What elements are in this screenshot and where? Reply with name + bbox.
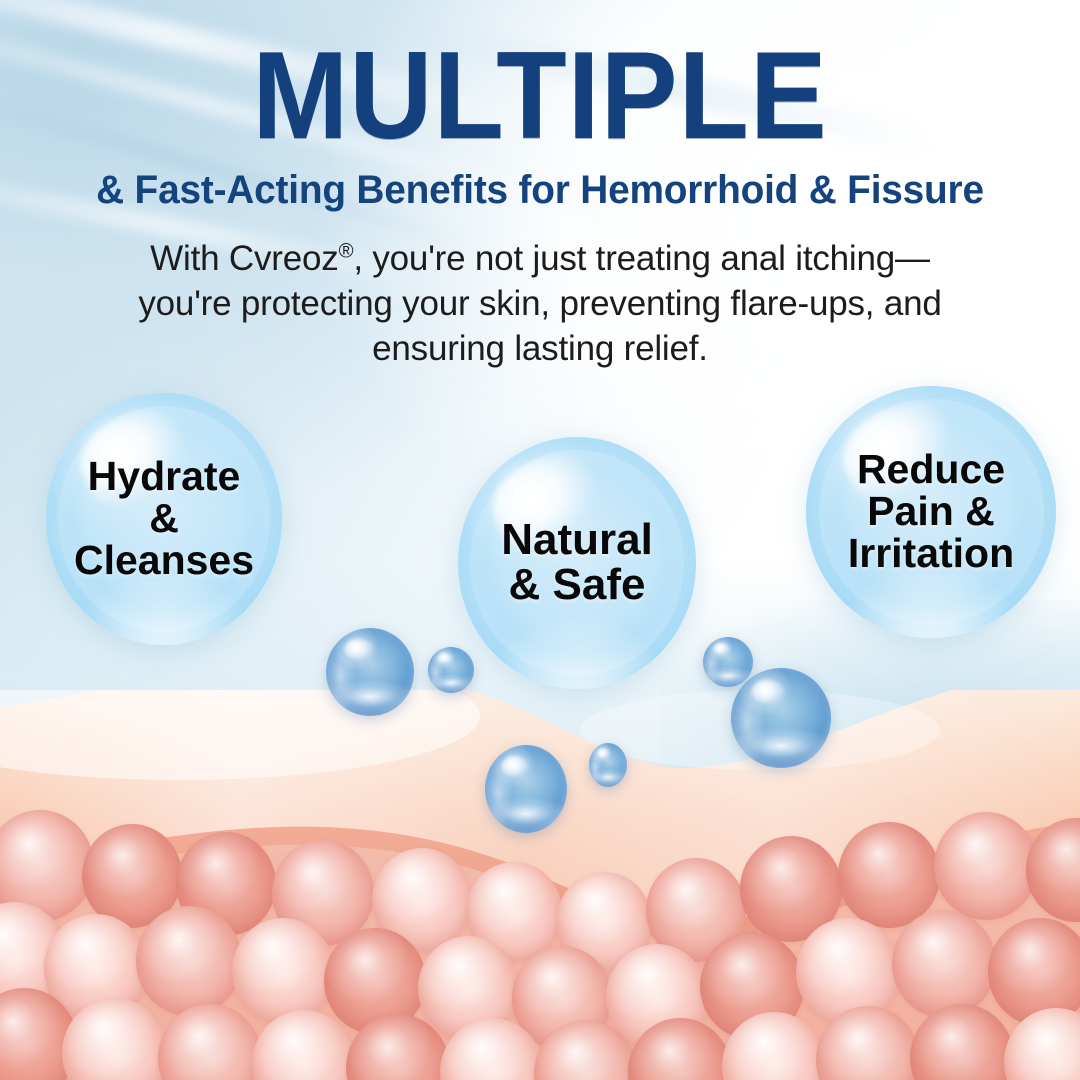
benefit-line: Pain & xyxy=(867,491,995,533)
benefit-bubble-reduce-label: Reduce Pain & Irritation xyxy=(806,386,1056,638)
benefit-line: & xyxy=(149,498,179,540)
skin-cell xyxy=(892,910,996,1018)
skin-cell xyxy=(934,812,1038,920)
infographic-canvas: MULTIPLE & Fast-Acting Benefits for Hemo… xyxy=(0,0,1080,1080)
registered-trademark-icon: ® xyxy=(339,240,354,262)
body-line-2: you're protecting your skin, preventing … xyxy=(138,284,941,323)
skin-cell xyxy=(232,918,334,1024)
water-droplet xyxy=(326,628,414,716)
water-droplet xyxy=(589,743,627,787)
header-text-block: MULTIPLE & Fast-Acting Benefits for Hemo… xyxy=(0,0,1080,371)
benefit-bubble-reduce[interactable]: Reduce Pain & Irritation xyxy=(806,386,1056,638)
skin-cell xyxy=(136,906,242,1016)
benefit-bubble-natural-label: Natural & Safe xyxy=(458,437,696,689)
page-subtitle: & Fast-Acting Benefits for Hemorrhoid & … xyxy=(16,168,1064,213)
body-paragraph: With Cvreoz®, you're not just treating a… xyxy=(90,237,990,371)
benefit-line: Natural xyxy=(501,518,653,563)
water-droplet xyxy=(731,668,831,768)
skin-cell xyxy=(838,822,940,928)
water-droplet xyxy=(485,745,567,833)
body-line-1-prefix: With Cvreoz xyxy=(150,239,338,278)
body-line-3: ensuring lasting relief. xyxy=(372,329,708,368)
benefit-line: Cleanses xyxy=(74,540,254,582)
skin-cell-layer xyxy=(0,806,1080,1080)
benefit-bubble-hydrate[interactable]: Hydrate & Cleanses xyxy=(46,393,282,645)
benefit-bubble-hydrate-label: Hydrate & Cleanses xyxy=(46,393,282,645)
body-line-1-suffix: , you're not just treating anal itching— xyxy=(353,239,930,278)
skin-cell xyxy=(158,1004,262,1080)
benefit-line: Reduce xyxy=(857,449,1005,491)
benefit-bubble-natural[interactable]: Natural & Safe xyxy=(458,437,696,689)
benefit-line: Irritation xyxy=(848,533,1014,575)
skin-cell xyxy=(910,1004,1014,1080)
skin-cell xyxy=(1026,818,1080,922)
water-droplet xyxy=(703,637,753,687)
benefit-line: Hydrate xyxy=(88,456,241,498)
page-title: MULTIPLE xyxy=(38,0,1042,158)
benefit-line: & Safe xyxy=(509,563,646,608)
